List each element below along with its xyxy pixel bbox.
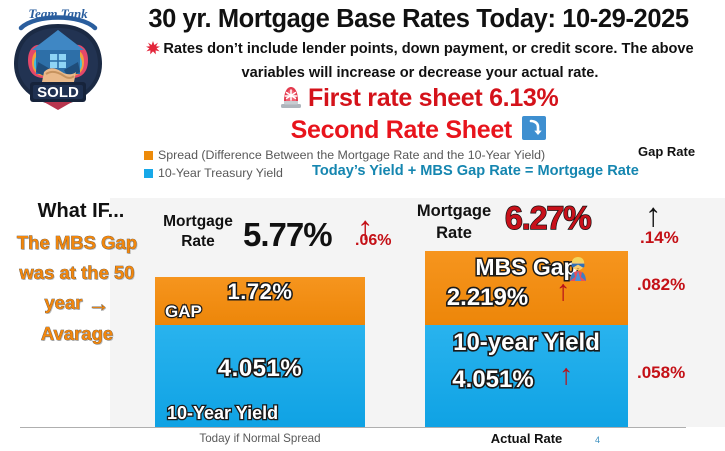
slide-canvas: SOLD Team Tank 30 yr. Mortgage Base Rate… bbox=[0, 0, 725, 451]
right-rate-up-arrow-icon: ↑ bbox=[645, 198, 662, 232]
left-rate-delta: .06% bbox=[355, 232, 391, 250]
right-stacked-bar[interactable]: MBS Gap 2.219% ↑ 10-year Yield 4.051% ↑ bbox=[425, 251, 628, 427]
right-mortgage-rate-label: Mortgage Rate bbox=[408, 200, 500, 244]
right-mortgage-rate-value: 6.27% bbox=[505, 200, 591, 237]
legend-label-spread: Spread (Difference Between the Mortgage … bbox=[158, 148, 545, 162]
legend-swatch-yield-icon bbox=[144, 169, 153, 178]
first-rate-sheet-line: First rate sheet 6.13% bbox=[112, 83, 725, 114]
slide-number: 4 bbox=[595, 435, 600, 445]
what-if-right-arrow-icon: → bbox=[88, 289, 110, 319]
what-if-body: The MBS Gap was at the 50 year → Avarage bbox=[6, 228, 148, 349]
second-rate-sheet-line: Second Rate Sheet bbox=[112, 116, 725, 145]
right-gap-tag: MBS Gap bbox=[425, 254, 628, 281]
right-yield-up-arrow-icon: ↑ bbox=[559, 359, 574, 391]
page-title: 30 yr. Mortgage Base Rates Today: 10-29-… bbox=[112, 4, 725, 34]
left-gap-tag: GAP bbox=[165, 302, 202, 322]
right-gap-delta: .082% bbox=[637, 275, 685, 295]
curved-arrow-down-right-icon bbox=[518, 127, 546, 144]
right-yield-value: 4.051% bbox=[429, 366, 557, 394]
left-stacked-bar[interactable]: 1.72% GAP 4.051% 10-Year Yield bbox=[155, 277, 365, 427]
first-rate-sheet-label: First rate sheet 6.13% bbox=[308, 84, 558, 112]
right-yield-delta: .058% bbox=[637, 363, 685, 383]
left-category-label: Today if Normal Spread bbox=[155, 432, 365, 445]
legend-label-treasury-yield: 10-Year Treasury Yield bbox=[158, 166, 283, 180]
rate-equation-text: Today’s Yield + MBS Gap Rate = Mortgage … bbox=[312, 163, 639, 179]
right-gap-value: 2.219% bbox=[425, 284, 550, 312]
right-gap-up-arrow-icon: ↑ bbox=[556, 275, 571, 307]
right-rate-delta: .14% bbox=[640, 228, 679, 248]
left-mortgage-rate-value: 5.77% bbox=[243, 216, 332, 254]
svg-text:SOLD: SOLD bbox=[37, 84, 79, 101]
what-if-title: What IF... bbox=[16, 200, 146, 223]
what-if-line-1: The MBS Gap bbox=[17, 232, 137, 253]
gap-rate-column-header: Gap Rate bbox=[638, 144, 695, 159]
second-rate-sheet-label: Second Rate Sheet bbox=[291, 116, 512, 144]
team-tank-sold-logo: SOLD Team Tank bbox=[4, 2, 112, 112]
disclaimer-text: Rates don’t include lender points, down … bbox=[120, 38, 720, 84]
police-siren-icon bbox=[279, 96, 307, 113]
left-bar-gap-segment[interactable]: 1.72% GAP bbox=[155, 277, 365, 325]
disclaimer-label: Rates don’t include lender points, down … bbox=[163, 41, 693, 81]
chart-x-axis-line bbox=[20, 427, 686, 428]
right-bar-gap-segment[interactable]: MBS Gap 2.219% ↑ bbox=[425, 251, 628, 325]
what-if-line-2: was at the 50 bbox=[19, 262, 134, 283]
house-handshake-sold-badge-logo-icon: SOLD Team Tank bbox=[4, 2, 112, 112]
legend-swatch-spread-icon bbox=[144, 151, 153, 160]
left-mortgage-rate-label: Mortgage Rate bbox=[152, 212, 244, 252]
right-yield-tag: 10-year Yield bbox=[425, 329, 628, 357]
what-if-line-4: Avarage bbox=[41, 323, 113, 344]
legend-item-spread: Spread (Difference Between the Mortgage … bbox=[144, 147, 545, 163]
svg-text:Team Tank: Team Tank bbox=[28, 6, 88, 21]
what-if-line-3: year bbox=[44, 292, 82, 313]
collision-star-icon bbox=[146, 40, 160, 62]
left-yield-tag: 10-Year Yield bbox=[167, 403, 278, 424]
left-yield-value: 4.051% bbox=[155, 355, 365, 383]
